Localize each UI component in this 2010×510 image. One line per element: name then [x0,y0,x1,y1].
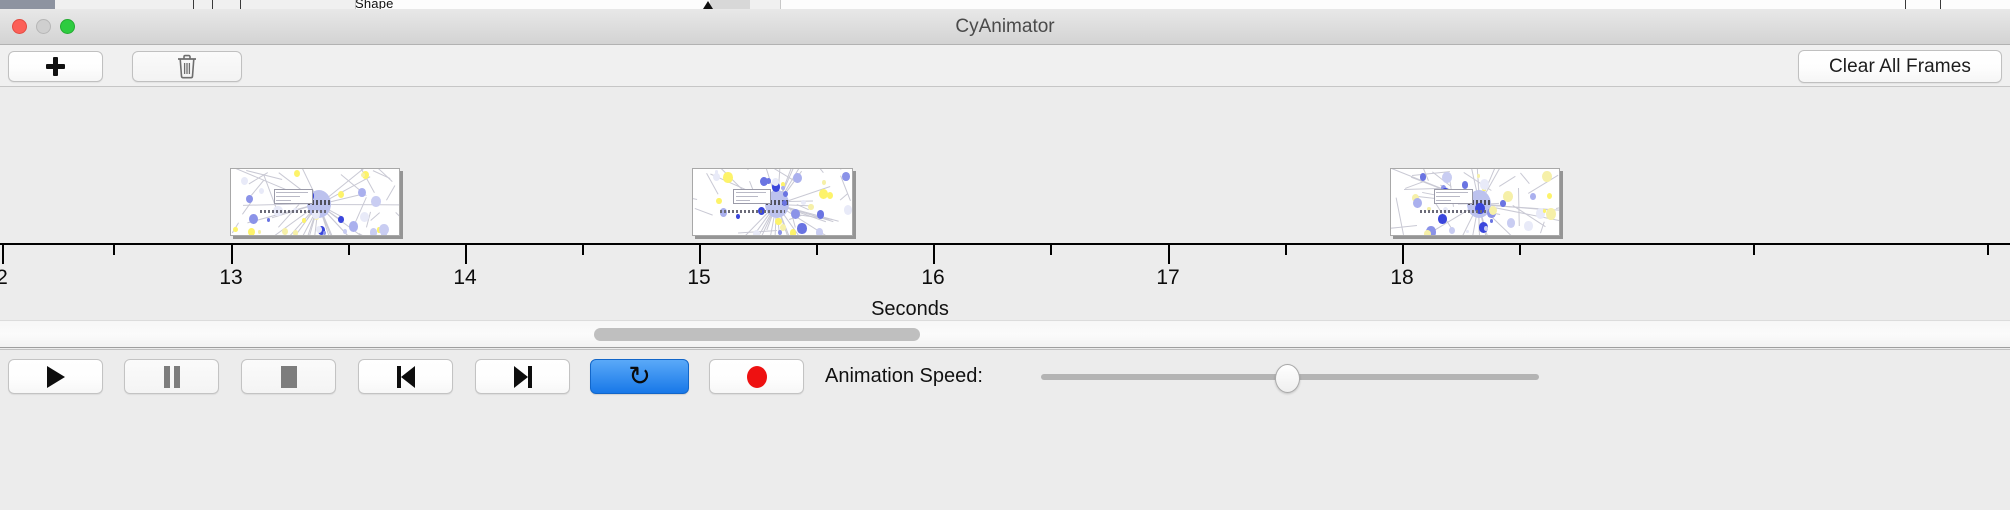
loop-button[interactable]: ↻ [590,359,689,394]
timeline-tick-label: 15 [687,266,710,290]
graph-node [842,172,850,181]
timeline-panel[interactable]: 2131415161718 Seconds [0,88,2010,318]
bg-seg [750,0,781,9]
bg-seg [0,0,56,9]
graph-node [1490,219,1494,223]
graph-node [381,231,386,236]
add-frame-button[interactable] [8,51,103,82]
graph-node [1524,221,1532,230]
graph-node [1477,174,1480,178]
pause-button[interactable] [124,359,219,394]
graph-node [817,210,824,219]
graph-node [294,170,300,177]
graph-node [1507,218,1515,227]
timeline-minor-tick [113,244,115,255]
graph-node [249,214,258,224]
graph-node [370,228,377,236]
graph-node [716,198,721,204]
bg-seg [190,0,241,9]
frame-thumbnail-1[interactable] [230,168,400,236]
skip-to-end-icon [512,366,534,388]
graph-node [1424,230,1431,236]
graph-node [801,200,806,205]
network-graph-miniature [1391,169,1559,235]
graph-node [282,228,288,235]
timeline-axis-title: Seconds [871,298,949,318]
graph-node [241,177,248,185]
graph-node [316,226,322,233]
graph-node [349,221,359,232]
play-button[interactable] [8,359,103,394]
graph-node [1484,226,1488,231]
stop-icon [281,366,297,388]
graph-node [360,212,369,223]
trash-icon [176,54,198,80]
timeline-tick-label: 14 [453,266,476,290]
stop-button[interactable] [241,359,336,394]
network-graph-miniature [231,169,399,235]
timeline-major-tick [231,244,233,264]
graph-node [323,231,326,235]
graph-node [338,191,345,199]
skip-to-start-icon [395,366,417,388]
cyanimator-window: Shape CyAnimator Clear All Frames 213141 [0,0,2010,510]
graph-node [844,205,853,215]
timeline-tick-label: 2 [0,266,8,290]
network-graph-miniature [693,169,852,235]
timeline-minor-tick [1753,244,1755,255]
timeline-minor-tick [1519,244,1521,255]
pause-icon [162,366,182,388]
frame-thumbnail-3[interactable] [1390,168,1560,236]
bg-seg [710,0,751,9]
scrollbar-thumb[interactable] [594,328,920,341]
bg-seg [145,0,191,9]
graph-node [258,230,261,234]
graph-node [267,218,270,222]
graph-node [302,218,306,223]
graph-node [793,173,802,183]
graph-node [338,216,344,223]
timeline-tick-label: 17 [1156,266,1179,290]
frame-toolbar: Clear All Frames [0,45,2010,87]
graph-node [371,196,380,207]
graph-node [736,214,740,219]
graph-node [248,228,255,236]
timeline-tick-label: 18 [1390,266,1413,290]
loop-icon: ↻ [628,363,651,390]
graph-node [1547,193,1552,199]
animation-speed-label: Animation Speed: [825,365,983,388]
graph-node [1503,191,1512,202]
timeline-major-tick [1168,244,1170,264]
animation-speed-slider-knob[interactable] [1275,364,1300,393]
timeline-minor-tick [582,244,584,255]
timeline-major-tick [933,244,935,264]
timeline-minor-tick [1987,244,1989,255]
bg-seg [55,0,146,9]
play-icon [47,366,65,388]
timeline-axis-line [0,243,2010,245]
timeline-minor-tick [1050,244,1052,255]
graph-node [1546,208,1556,219]
graph-node [791,209,800,219]
timeline-tick-label: 13 [219,266,242,290]
record-icon [747,366,767,388]
graph-node [723,172,732,183]
graph-node [1413,198,1422,209]
graph-node [1420,173,1427,181]
graph-node [1530,193,1536,200]
graph-node [808,204,814,211]
graph-node [783,191,788,197]
graph-node [1438,214,1447,224]
graph-node [797,223,806,234]
graph-node [780,224,786,231]
timeline-major-tick [699,244,701,264]
graph-node [827,192,833,199]
graph-node [1449,227,1455,234]
skip-forward-button[interactable] [475,359,570,394]
graph-node [1542,171,1552,182]
timeline-major-tick [465,244,467,264]
graph-node [1442,172,1451,183]
playback-controls: ↻ Animation Speed: [0,349,2010,510]
skip-back-button[interactable] [358,359,453,394]
timeline-major-tick [2,244,4,264]
frame-thumbnail-2[interactable] [692,168,853,236]
bg-seg [300,0,356,9]
graph-node [760,177,768,186]
graph-node [1462,181,1469,189]
bg-seg [240,0,301,9]
graph-node [782,200,787,206]
graph-node [713,173,720,181]
plus-icon [46,57,65,76]
timeline-tick-label: 16 [921,266,944,290]
window-title: CyAnimator [0,9,2010,45]
delete-frame-button[interactable] [132,51,242,82]
graph-node [246,195,253,203]
graph-node [753,230,760,236]
graph-node [233,227,237,232]
timeline-major-tick [1402,244,1404,264]
timeline-horizontal-scrollbar[interactable] [0,320,2010,348]
graph-node [1466,230,1469,234]
timeline-minor-tick [816,244,818,255]
graph-node [293,230,298,235]
timeline-minor-tick [348,244,350,255]
clear-all-frames-button[interactable]: Clear All Frames [1798,50,2002,83]
graph-node [816,228,823,236]
record-button[interactable] [709,359,804,394]
graph-node [790,229,797,236]
graph-node [822,180,826,185]
timeline-minor-tick [1285,244,1287,255]
window-titlebar: CyAnimator [0,9,2010,45]
graph-node [259,188,264,194]
graph-node [775,218,781,225]
